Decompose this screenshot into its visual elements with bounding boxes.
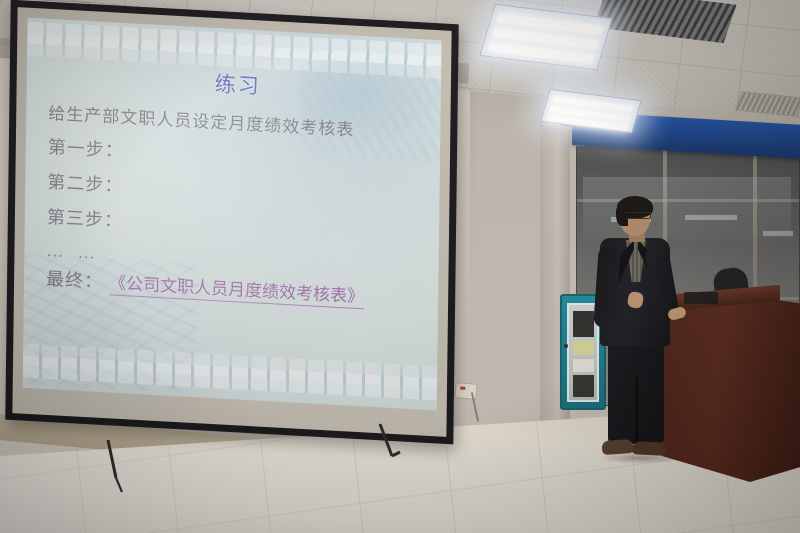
presenter-shoe — [632, 441, 667, 456]
presenter — [592, 196, 688, 468]
screen-mat: 练习 给生产部文职人员设定月度绩效考核表 第一步： 第二步： 第三步： … … … — [12, 7, 451, 437]
slide-final-label: 最终： — [46, 265, 103, 294]
cabinet-lock-icon — [564, 344, 568, 348]
interior-light-reflection — [685, 215, 737, 220]
glasses-icon — [625, 212, 651, 219]
cabinet-shelf — [573, 311, 594, 337]
presenter-shoe — [602, 439, 635, 455]
cabinet-shelf — [573, 341, 594, 355]
projector-screen: 练习 给生产部文职人员设定月度绩效考核表 第一步： 第二步： 第三步： … … … — [5, 0, 458, 444]
cabinet-shelf — [573, 359, 594, 372]
screen-frame: 练习 给生产部文职人员设定月度绩效考核表 第一步： 第二步： 第三步： … … … — [5, 0, 458, 444]
presenter-trouser-seam — [635, 376, 638, 442]
slide-surface: 练习 给生产部文职人员设定月度绩效考核表 第一步： 第二步： 第三步： … … … — [23, 18, 442, 411]
podium-equipment — [684, 292, 718, 304]
classroom-presentation-photo: 练习 给生产部文职人员设定月度绩效考核表 第一步： 第二步： 第三步： … … … — [0, 0, 800, 533]
interior-light-reflection — [763, 231, 793, 236]
slide-content: 练习 给生产部文职人员设定月度绩效考核表 第一步： 第二步： 第三步： … … … — [23, 48, 441, 373]
cabinet-shelf — [573, 375, 594, 397]
